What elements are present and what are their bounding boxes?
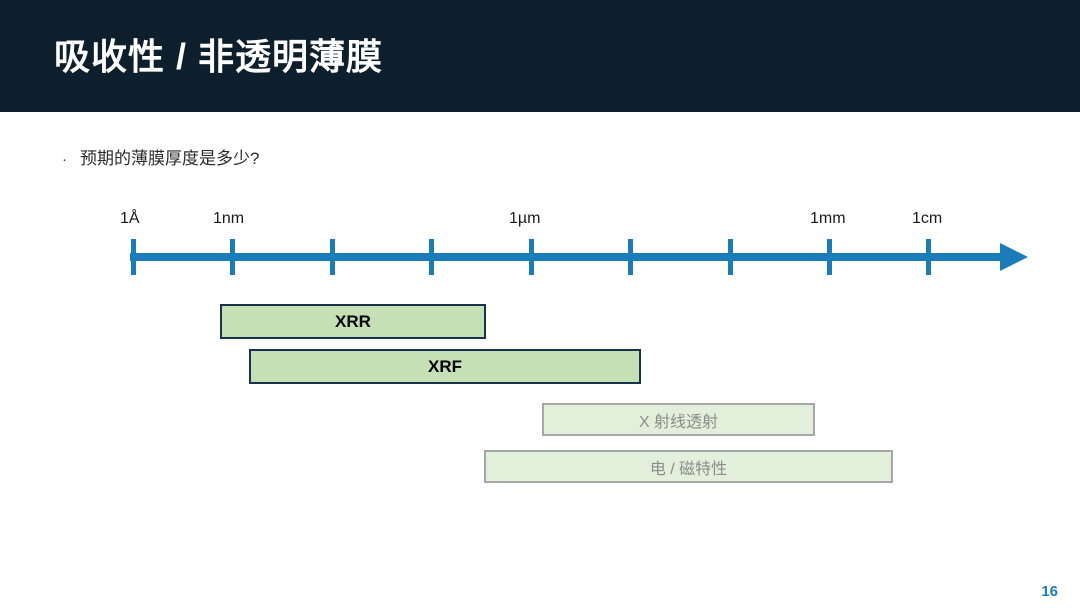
range-bar-label: 电 / 磁特性 (650, 455, 727, 479)
axis-tick-label-centimeter: 1cm (912, 210, 942, 228)
axis-tick (926, 239, 931, 275)
page-title: 吸收性 / 非透明薄膜 (54, 28, 383, 80)
slide-body: · 预期的薄膜厚度是多少? 1Å 1nm 1µm 1mm 1cm XRR XRF… (0, 112, 1080, 608)
range-bar-label: XRF (428, 357, 462, 377)
range-bar-label: X 射线透射 (639, 408, 718, 432)
axis-tick-label-angstrom: 1Å (120, 210, 140, 228)
axis-tick-label-millimeter: 1mm (810, 210, 846, 228)
scale-axis-line (130, 253, 1020, 261)
range-bar-xrr[interactable]: XRR (220, 304, 486, 339)
axis-tick (131, 239, 136, 275)
axis-tick (429, 239, 434, 275)
scale-axis-arrow-icon (1000, 243, 1028, 271)
axis-tick (529, 239, 534, 275)
axis-tick-label-micrometer: 1µm (509, 210, 540, 228)
page-number: 16 (1041, 583, 1058, 600)
axis-tick (827, 239, 832, 275)
slide-header: 吸收性 / 非透明薄膜 (0, 0, 1080, 112)
axis-tick (728, 239, 733, 275)
axis-tick (628, 239, 633, 275)
axis-tick-label-nanometer: 1nm (213, 210, 244, 228)
range-bar-xrf[interactable]: XRF (249, 349, 641, 384)
range-bar-x-ray-transmission[interactable]: X 射线透射 (542, 403, 815, 436)
range-bar-electrical-magnetic[interactable]: 电 / 磁特性 (484, 450, 893, 483)
range-bar-label: XRR (335, 312, 371, 332)
length-scale-chart: 1Å 1nm 1µm 1mm 1cm XRR XRF X 射线透射 电 / 磁特… (0, 112, 1080, 608)
axis-tick (330, 239, 335, 275)
axis-tick (230, 239, 235, 275)
